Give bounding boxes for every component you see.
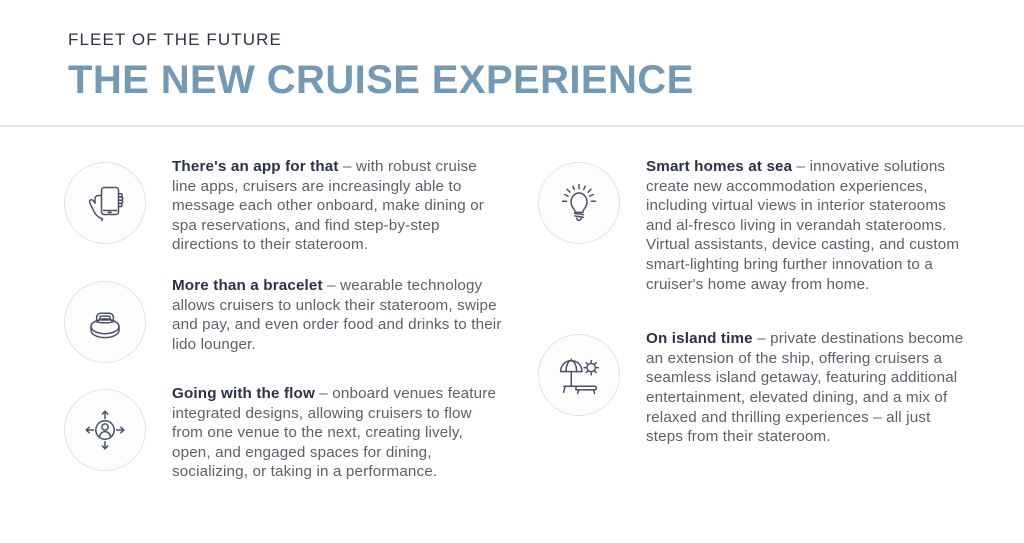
list-item-text: Going with the flow – onboard venues fea… (146, 379, 504, 482)
kicker-text: FLEET OF THE FUTURE (68, 30, 1024, 50)
header-divider (0, 125, 1024, 127)
infographic-page: FLEET OF THE FUTURE THE NEW CRUISE EXPER… (0, 0, 1024, 543)
left-column: There's an app for that – with robust cr… (0, 152, 512, 498)
list-item: More than a bracelet – wearable technolo… (64, 271, 512, 363)
list-item-body: – private destinations become an extensi… (646, 330, 963, 445)
header: FLEET OF THE FUTURE THE NEW CRUISE EXPER… (0, 0, 1024, 103)
wristband-bracelet-icon (64, 281, 146, 363)
list-item-lead: On island time (646, 330, 753, 347)
list-item: Going with the flow – onboard venues fea… (64, 379, 512, 482)
list-item: There's an app for that – with robust cr… (64, 152, 512, 255)
content-columns: There's an app for that – with robust cr… (0, 152, 1024, 498)
list-item-body: – innovative solutions create new accomm… (646, 158, 959, 293)
page-title: THE NEW CRUISE EXPERIENCE (68, 59, 1024, 102)
lightbulb-icon (538, 162, 620, 244)
list-item-text: There's an app for that – with robust cr… (146, 152, 504, 255)
list-item: On island time – private destinations be… (538, 324, 1024, 447)
list-item-text: On island time – private destinations be… (620, 324, 968, 447)
person-four-arrows-icon (64, 389, 146, 471)
beach-umbrella-lounger-sun-icon (538, 334, 620, 416)
list-item-text: More than a bracelet – wearable technolo… (146, 271, 504, 354)
list-item-lead: There's an app for that (172, 158, 339, 175)
list-item-lead: Going with the flow (172, 385, 315, 402)
hand-holding-phone-icon (64, 162, 146, 244)
list-item-text: Smart homes at sea – innovative solution… (620, 152, 968, 294)
list-item-lead: More than a bracelet (172, 277, 323, 294)
list-item: Smart homes at sea – innovative solution… (538, 152, 1024, 294)
right-column: Smart homes at sea – innovative solution… (512, 152, 1024, 498)
list-item-lead: Smart homes at sea (646, 158, 792, 175)
